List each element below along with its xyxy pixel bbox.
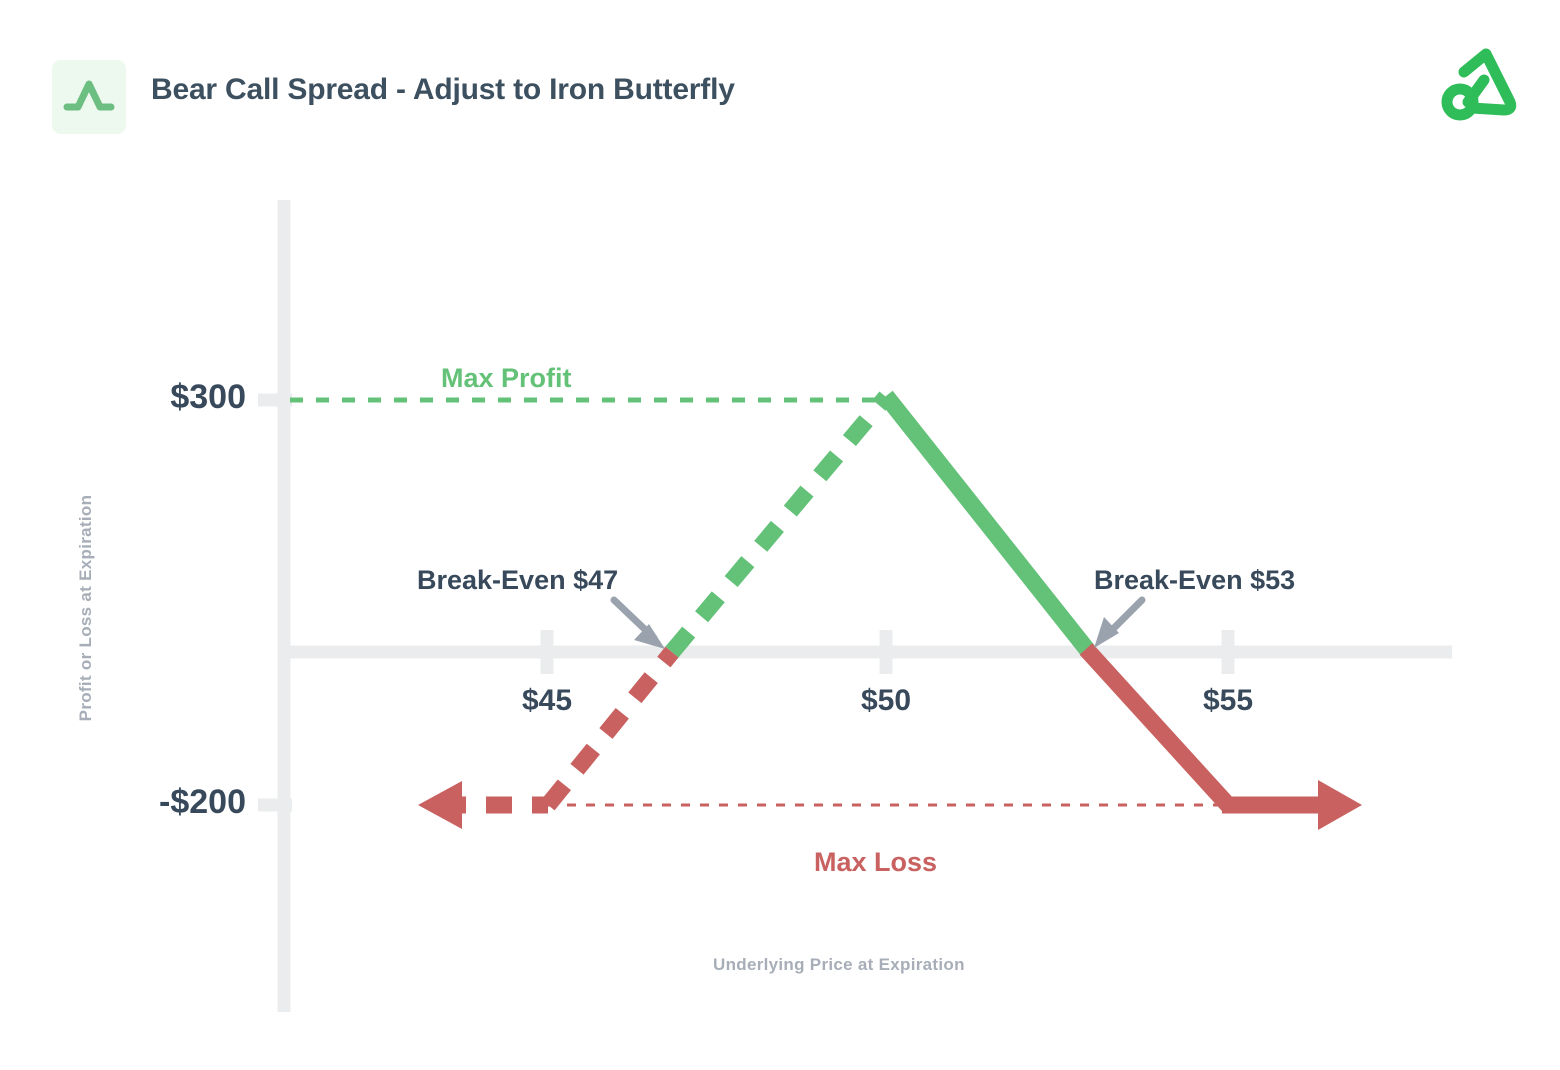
break-even-left-arrow (614, 600, 665, 649)
break-even-right-label: Break-Even $53 (1094, 565, 1295, 596)
payoff-segment-rise-green (672, 397, 886, 652)
y-axis-title: Profit or Loss at Expiration (76, 468, 96, 748)
x-tick-label-45: $45 (457, 684, 637, 718)
y-tick-label-minus200: -$200 (50, 783, 246, 822)
x-tick-label-50: $50 (796, 684, 976, 718)
payoff-segment-rise-red (548, 652, 672, 805)
payoff-chart (0, 0, 1560, 1070)
payoff-segment-fall-green (886, 396, 1089, 652)
payoff-segment-fall-red (1086, 649, 1228, 805)
right-arrow-head (1318, 780, 1362, 830)
max-loss-label: Max Loss (814, 847, 937, 878)
x-tick-label-55: $55 (1138, 684, 1318, 718)
max-profit-label: Max Profit (441, 363, 572, 394)
break-even-left-label: Break-Even $47 (417, 565, 618, 596)
y-tick-label-300: $300 (60, 378, 246, 417)
x-axis-title: Underlying Price at Expiration (713, 955, 965, 975)
left-arrow-head (418, 781, 462, 829)
break-even-right-arrow (1094, 600, 1142, 648)
